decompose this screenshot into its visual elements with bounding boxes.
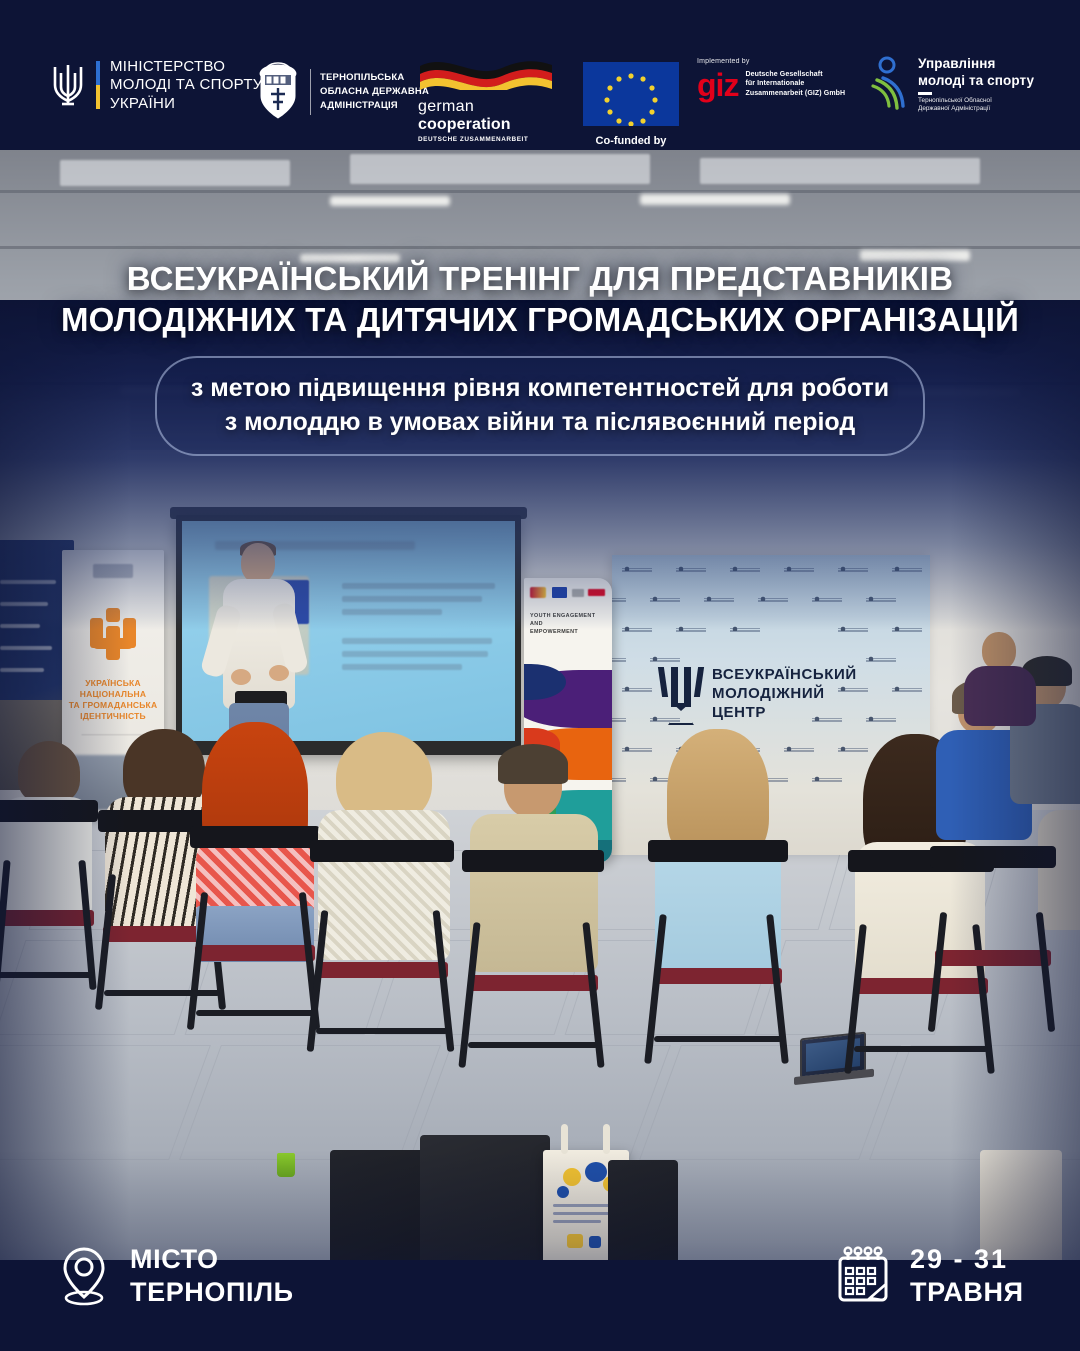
yee-title: YOUTH ENGAGEMENT AND EMPOWERMENT xyxy=(530,612,606,636)
department-line-1: Управління xyxy=(918,56,1034,72)
ternopil-line-1: ТЕРНОПІЛЬСЬКА xyxy=(320,71,429,85)
logo-ministry-of-youth-and-sports: МІНІСТЕРСТВО МОЛОДІ ТА СПОРТУ УКРАЇНИ xyxy=(50,58,263,113)
identity-logo-icon xyxy=(90,608,136,660)
giz-wordmark: giz xyxy=(697,72,738,98)
chair xyxy=(190,826,320,1031)
page-title-line-1: ВСЕУКРАЇНСЬКИЙ ТРЕНІНГ ДЛЯ ПРЕДСТАВНИКІВ xyxy=(40,258,1040,299)
ministry-line-1: МІНІСТЕРСТВО xyxy=(110,58,263,76)
logo-youth-and-sports-department: Управління молоді та спорту Тернопільськ… xyxy=(870,56,1034,114)
chair xyxy=(648,840,788,1060)
department-line-2: молоді та спорту xyxy=(918,73,1034,89)
logo-german-cooperation: german cooperation DEUTSCHE ZUSAMMENARBE… xyxy=(418,56,563,144)
subtitle-line-1: з метою підвищення рівня компетентностей… xyxy=(179,371,901,405)
giz-line-1: Deutsche Gesellschaft xyxy=(745,70,845,80)
event-poster: УКРАЇНСЬКА НАЦІОНАЛЬНА ТА ГРОМАДАНСЬКА І… xyxy=(0,0,1080,1351)
ministry-line-2: МОЛОДІ ТА СПОРТУ xyxy=(110,76,263,94)
running-figure-icon xyxy=(870,56,910,114)
ukraine-flag-divider xyxy=(96,61,100,109)
logo-giz: Implemented by giz Deutsche Gesellschaft… xyxy=(697,58,857,98)
location-line-2: ТЕРНОПІЛЬ xyxy=(130,1276,294,1309)
yee-title-line-1: YOUTH ENGAGEMENT AND xyxy=(530,612,606,628)
giz-line-2: für Internationale xyxy=(745,79,845,89)
date-line-2: ТРАВНЯ xyxy=(910,1276,1024,1309)
logo-divider xyxy=(310,69,311,115)
subtitle-line-2: з молоддю в умовах війни та післявоєнний… xyxy=(179,405,901,439)
press-wall-name: ВСЕУКРАЇНСЬКИЙ МОЛОДІЖНИЙ ЦЕНТР xyxy=(712,665,857,722)
eu-flag-icon xyxy=(583,62,679,126)
press-wall-branding: ВСЕУКРАЇНСЬКИЙ МОЛОДІЖНИЙ ЦЕНТР xyxy=(660,663,900,735)
german-cooperation-line-2: cooperation xyxy=(418,115,563,135)
calendar-icon xyxy=(836,1246,890,1306)
ministry-line-3: УКРАЇНИ xyxy=(110,95,263,113)
attendee-group-right xyxy=(930,750,1080,1080)
footer-date: 29 - 31 ТРАВНЯ xyxy=(836,1243,1024,1309)
logo-european-union: Co-funded by xyxy=(576,62,686,148)
identity-banner-text: УКРАЇНСЬКА НАЦІОНАЛЬНА ТА ГРОМАДАНСЬКА І… xyxy=(66,678,160,722)
department-divider xyxy=(918,92,932,95)
eu-caption: Co-funded by xyxy=(576,135,686,148)
chair xyxy=(310,840,454,1050)
german-flag-ribbon-icon xyxy=(418,56,554,90)
giz-implemented-by: Implemented by xyxy=(697,58,857,67)
press-wall-line-1: ВСЕУКРАЇНСЬКИЙ xyxy=(712,665,857,684)
ternopil-line-3: АДМІНІСТРАЦІЯ xyxy=(320,99,429,113)
press-wall-line-2: МОЛОДІЖНИЙ xyxy=(712,684,857,703)
location-line-1: МІСТО xyxy=(130,1243,294,1276)
identity-line-2: НАЦІОНАЛЬНА xyxy=(66,689,160,700)
date-line-1: 29 - 31 xyxy=(910,1243,1024,1276)
partner-logo-bar: МІНІСТЕРСТВО МОЛОДІ ТА СПОРТУ УКРАЇНИ ТЕ… xyxy=(0,0,1080,150)
cup xyxy=(277,1153,295,1177)
footer: МІСТО ТЕРНОПІЛЬ xyxy=(0,1221,1080,1351)
footer-location: МІСТО ТЕРНОПІЛЬ xyxy=(58,1243,294,1309)
youth-center-logo-icon xyxy=(660,667,702,725)
logo-ternopil-regional-administration: ТЕРНОПІЛЬСЬКА ОБЛАСНА ДЕРЖАВНА АДМІНІСТР… xyxy=(255,62,429,122)
department-sub-2: Державної Адміністрації xyxy=(918,105,1034,114)
yee-partner-logos xyxy=(530,586,606,600)
title-block: ВСЕУКРАЇНСЬКИЙ ТРЕНІНГ ДЛЯ ПРЕДСТАВНИКІВ… xyxy=(0,258,1080,456)
map-pin-icon xyxy=(58,1245,110,1307)
identity-line-4: ІДЕНТИЧНІСТЬ xyxy=(66,711,160,722)
german-cooperation-line-3: DEUTSCHE ZUSAMMENARBEIT xyxy=(418,136,563,144)
press-wall-line-3: ЦЕНТР xyxy=(712,703,857,722)
ternopil-coat-of-arms-icon xyxy=(255,62,301,122)
page-title-line-2: МОЛОДІЖНИХ ТА ДИТЯЧИХ ГРОМАДСЬКИХ ОРГАНІ… xyxy=(40,299,1040,340)
identity-line-1: УКРАЇНСЬКА xyxy=(66,678,160,689)
ukraine-trident-icon xyxy=(50,59,86,111)
chair xyxy=(0,800,98,990)
yee-title-line-2: EMPOWERMENT xyxy=(530,628,606,636)
identity-line-3: ТА ГРОМАДАНСЬКА xyxy=(66,700,160,711)
ternopil-line-2: ОБЛАСНА ДЕРЖАВНА xyxy=(320,85,429,99)
chair xyxy=(462,850,604,1065)
giz-line-3: Zusammenarbeit (GIZ) GmbH xyxy=(745,89,845,99)
subtitle-pill: з метою підвищення рівня компетентностей… xyxy=(155,356,925,456)
